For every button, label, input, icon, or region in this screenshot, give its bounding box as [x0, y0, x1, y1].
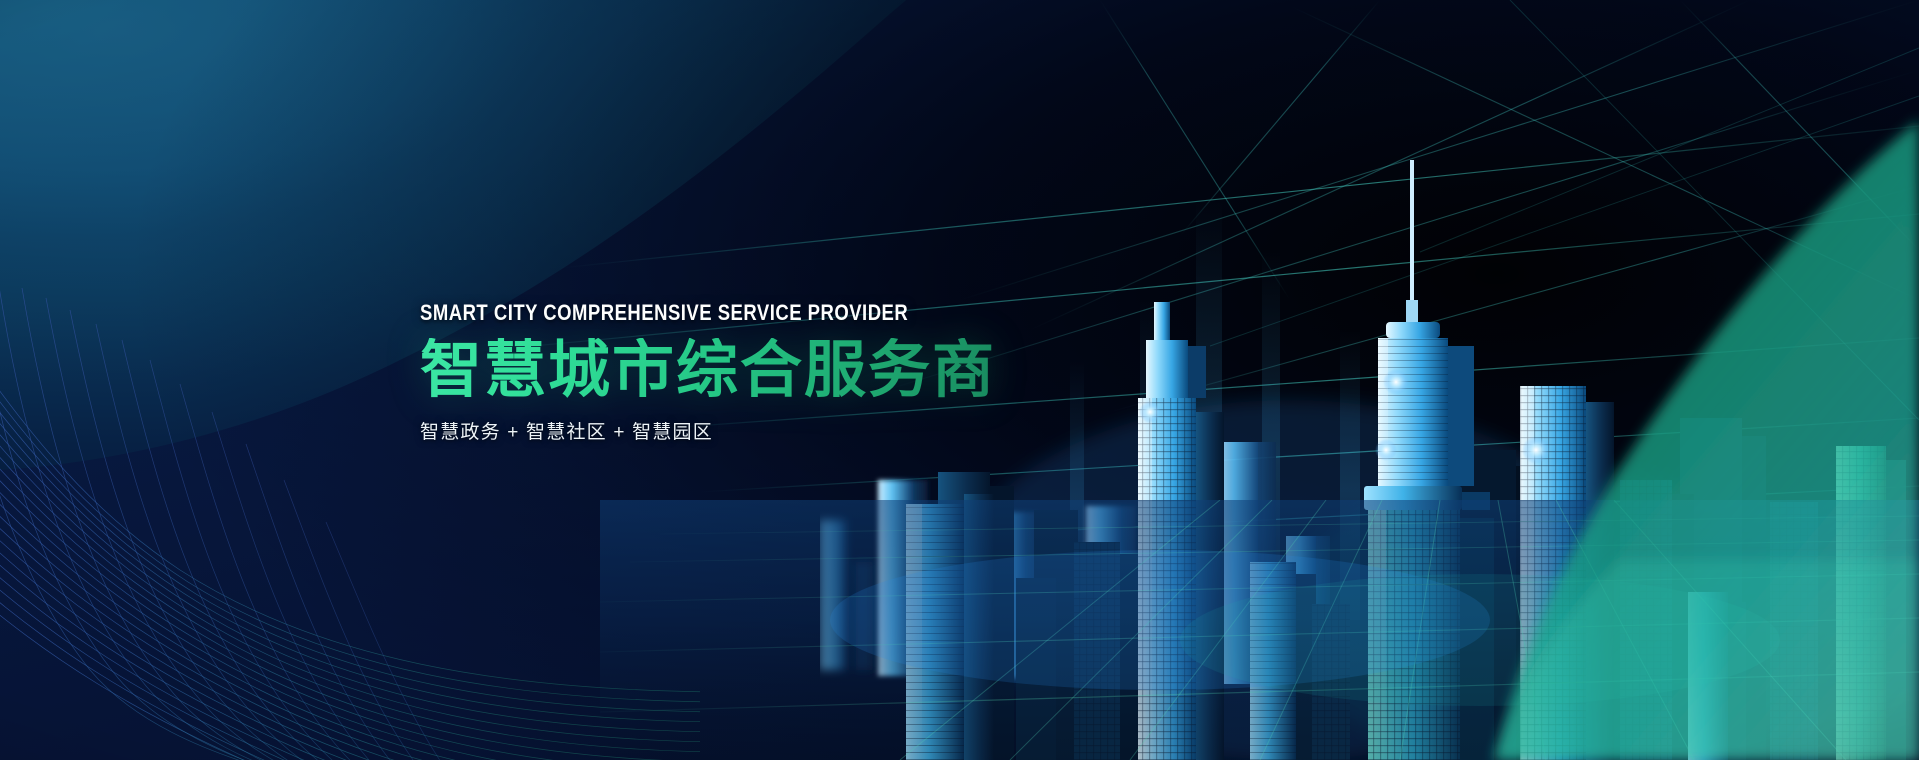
hero-text-block: SMART CITY COMPREHENSIVE SERVICE PROVIDE…: [420, 300, 1120, 444]
hero-subtitle: 智慧政务 + 智慧社区 + 智慧园区: [420, 417, 1120, 444]
hero-banner: SMART CITY COMPREHENSIVE SERVICE PROVIDE…: [0, 0, 1919, 760]
hero-eyebrow-english: SMART CITY COMPREHENSIVE SERVICE PROVIDE…: [420, 300, 1008, 326]
page-title: 智慧城市综合服务商: [420, 338, 1120, 404]
